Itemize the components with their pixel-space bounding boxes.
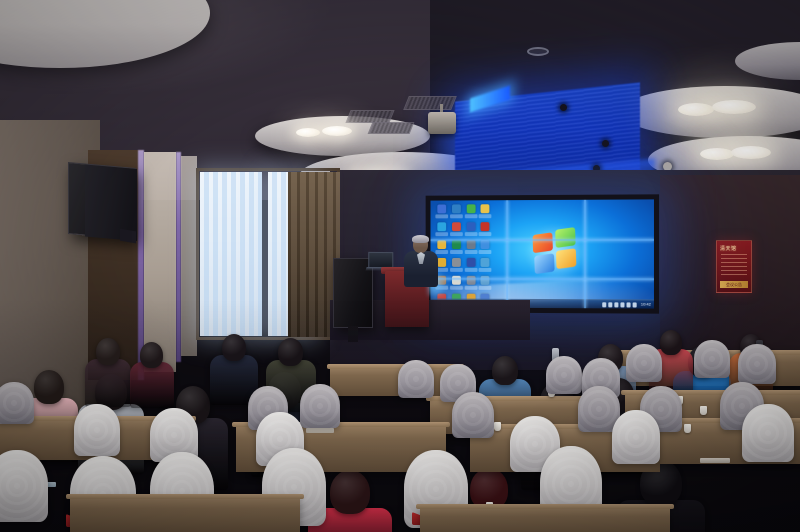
conference-hall-photo: 清天馆 会议公告 [0, 0, 800, 532]
banquet-chair [300, 384, 340, 428]
attendee-lightblue-head [492, 356, 518, 385]
presenter-hair [412, 235, 429, 243]
installer-icon[interactable] [450, 258, 463, 274]
wall-poster: 清天馆 会议公告 [716, 240, 752, 293]
video-wall-seam-h1 [431, 239, 654, 241]
paper-cup [700, 406, 707, 415]
handout-paper [700, 458, 730, 463]
wall-mounted-pa-speaker [68, 162, 136, 240]
presenter-laptop-screen[interactable] [368, 252, 393, 268]
image-icon[interactable] [479, 258, 492, 274]
butterfly-lamp-right-lower-b [731, 146, 771, 159]
windows-logo-icon [533, 229, 580, 278]
video-wall-seam-v2 [584, 200, 586, 308]
banquet-chair [74, 404, 120, 456]
butterfly-lamp-center-left [296, 128, 320, 137]
poster-title: 清天馆 [720, 245, 748, 252]
speaker-mounting-bracket [120, 229, 136, 244]
recessed-ring-light [527, 47, 549, 56]
ceiling-projector [428, 112, 456, 134]
settings-icon[interactable] [464, 240, 477, 256]
excel-icon[interactable] [450, 240, 463, 256]
attendee-maroon-back-head [140, 342, 163, 368]
video-wall-display[interactable]: 10:42 [426, 194, 659, 313]
table-row [70, 496, 300, 532]
handout-paper [306, 428, 334, 433]
antivirus-icon[interactable] [479, 240, 492, 256]
pdf-icon[interactable] [479, 222, 492, 238]
paper-cup [494, 422, 501, 431]
butterfly-lamp-center-right [322, 126, 352, 136]
paper-cup [684, 424, 691, 433]
attendee-red-jacket-head [660, 330, 682, 355]
banquet-chair [546, 356, 582, 394]
attendee-pink-bottom-head [330, 470, 370, 514]
banquet-chair [0, 382, 34, 424]
documents-folder-icon[interactable] [479, 204, 492, 220]
table-top [416, 504, 674, 509]
attendee-glasses-back-head [96, 338, 120, 365]
table-top [327, 364, 464, 369]
audience-area [0, 300, 800, 532]
attendee-maroon-back [130, 362, 174, 408]
butterfly-lamp-right-upper-a [678, 103, 714, 116]
attendee-pink-left-head [34, 370, 64, 404]
attendee-glasses-back [85, 359, 131, 407]
attendee-olive-mid-head [278, 338, 303, 366]
video-wall-seam-v1 [506, 200, 508, 308]
ceiling-spotlight-2 [602, 140, 609, 147]
recycle-bin-icon[interactable] [450, 204, 463, 220]
attendee-darkblue-mid-head [222, 334, 246, 361]
butterfly-lamp-right-upper-b [712, 100, 756, 114]
banquet-chair [452, 392, 494, 438]
presenter [404, 236, 438, 286]
table-top [66, 494, 304, 499]
poster-body-lines [721, 254, 747, 279]
banquet-chair [612, 410, 660, 464]
browser-icon[interactable] [464, 204, 477, 220]
banquet-chair [626, 344, 662, 382]
ceiling-spotlight-1 [560, 104, 567, 111]
video-wall-screen[interactable]: 10:42 [431, 199, 654, 308]
video-icon[interactable] [464, 258, 477, 274]
banquet-chair [738, 344, 776, 384]
ceiling-air-vent-3 [368, 122, 415, 134]
poster-footer: 会议公告 [720, 281, 748, 288]
butterfly-lamp-right-lower-a [700, 148, 734, 160]
media-player-icon[interactable] [450, 222, 463, 238]
banquet-chair [398, 360, 434, 398]
table-row [420, 506, 670, 532]
ceiling-air-vent-1 [403, 96, 457, 110]
banquet-chair [694, 340, 730, 378]
computer-icon[interactable] [435, 204, 448, 220]
word-doc-icon[interactable] [464, 222, 477, 238]
banquet-chair [742, 404, 794, 462]
